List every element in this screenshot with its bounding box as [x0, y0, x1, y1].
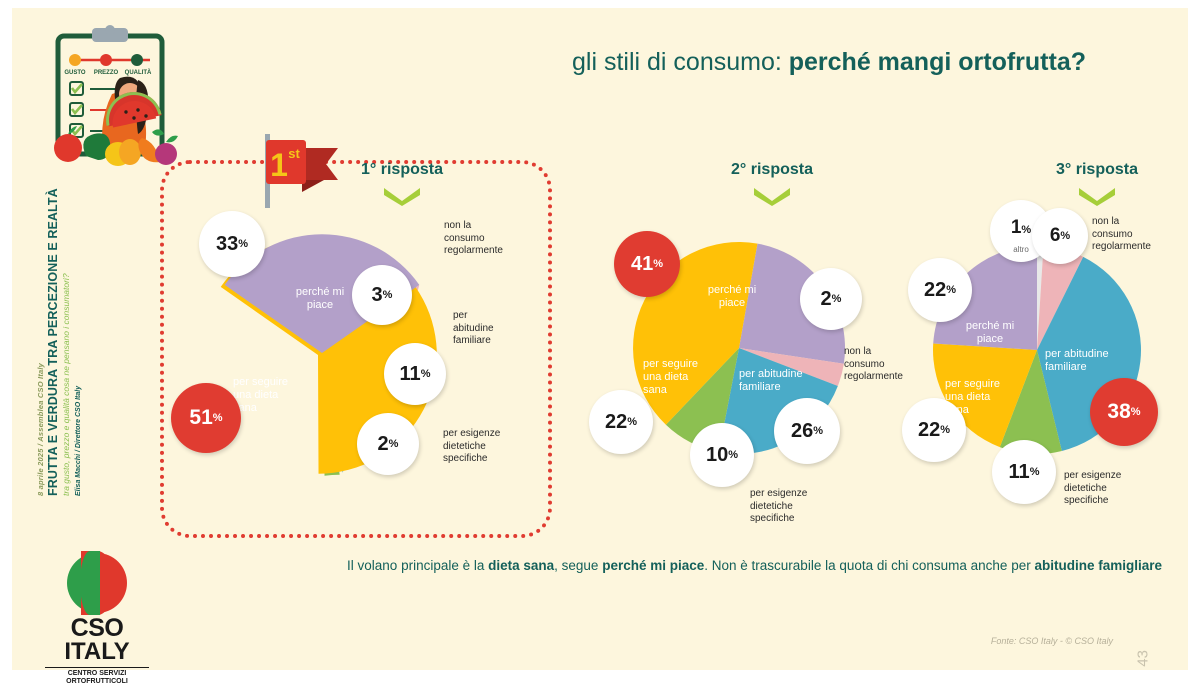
chart-1-unit-51: % [213, 412, 223, 424]
chart-3-value-6: 6 [1050, 225, 1061, 247]
slide-canvas: 8 aprile 2025 / Assemblea CSO Italy FRUT… [12, 8, 1188, 670]
chart-1-unit-33: % [238, 238, 248, 250]
chart-3-unit-6: % [1060, 230, 1070, 242]
summary-caption: Il volano principale è la dieta sana, se… [202, 556, 1162, 577]
chart-1-bubble-51: 51% [171, 383, 241, 453]
slider-label-prezzo: PREZZO [94, 70, 119, 76]
chart-2-bubble-2: 2% [800, 268, 862, 330]
chart-2-value-22: 22 [605, 411, 627, 434]
chart-3-bubble-6: 6% [1032, 208, 1088, 264]
chart-2-bubble-22: 22% [589, 390, 653, 454]
logo-subtitle-line1: CENTRO SERVIZI [68, 670, 127, 677]
chart-1-value-11: 11 [400, 363, 421, 386]
logo-name-italy: ITALY [45, 641, 149, 664]
chart-1-outlabel-abitudine: perabitudinefamiliare [453, 310, 548, 348]
chart-1-bubble-33: 33% [199, 211, 265, 277]
chart-1-bubble-11: 11% [384, 343, 446, 405]
chart-1-outlabel-esigenze: per esigenzedietetichespecifiche [443, 428, 543, 466]
hero-illustration: GUSTO PREZZO QUALITÀ [34, 22, 194, 172]
chart-block-1: 1° risposta perché mipiace per seguireun… [172, 158, 552, 538]
chart-1-bubble-3: 3% [352, 265, 412, 325]
caption-part1: Il volano principale è la [347, 558, 488, 573]
rail-headline: FRUTTA E VERDURA TRA PERCEZIONE E REALTÀ [46, 166, 60, 496]
chart-1-heading: 1° risposta [342, 161, 462, 179]
chart-3-value-11: 11 [1009, 461, 1030, 484]
chart-2-bubble-10: 10% [690, 423, 754, 487]
chart-1-outlabel-non-consumo: non laconsumoregolarmente [444, 220, 539, 258]
slider-label-qualita: QUALITÀ [125, 69, 152, 76]
chart-1-value-51: 51 [189, 406, 212, 430]
cso-italy-logo: CSO ITALY CENTRO SERVIZI ORTOFRUTTICOLI [45, 553, 149, 686]
chart-1-value-3: 3 [372, 284, 383, 307]
chart-3-unit-22-top: % [946, 284, 956, 296]
caption-bold1: dieta sana [488, 558, 554, 573]
chart-1-unit-11: % [421, 368, 431, 380]
chart-1-value-33: 33 [216, 233, 238, 256]
chevron-down-icon-1 [382, 186, 422, 206]
chart-3-bubble-22-bottom: 22% [902, 398, 966, 462]
chart-2-bubble-41: 41% [614, 231, 680, 297]
chart-2-outlabel-esigenze: per esigenzedietetichespecifiche [750, 488, 850, 526]
vertical-title-rail: 8 aprile 2025 / Assemblea CSO Italy FRUT… [36, 166, 82, 496]
chart-3-value-22-bottom: 22 [918, 419, 940, 442]
chart-3-bubble-22-top: 22% [908, 258, 972, 322]
caption-part2: , segue [554, 558, 602, 573]
chart-3-value-38: 38 [1107, 400, 1130, 424]
chevron-down-icon-2 [752, 186, 792, 206]
chart-3-unit-11: % [1030, 466, 1040, 478]
chart-3-heading: 3° risposta [1032, 161, 1162, 179]
rail-author: Elisa Macchi / Direttore CSO Italy [75, 166, 82, 496]
chart-2-heading: 2° risposta [707, 161, 837, 179]
chart-3-value-22-top: 22 [924, 279, 946, 302]
page-number: 43 [1135, 650, 1152, 667]
chart-2-value-10: 10 [706, 444, 728, 467]
page-title-plain: gli stili di consumo: [572, 48, 789, 76]
cso-logo-mark [67, 553, 127, 613]
chart-2-unit-2: % [832, 293, 842, 305]
chart-2-bubble-26: 26% [774, 398, 840, 464]
chart-2-value-26: 26 [791, 420, 813, 443]
chart-2-unit-41: % [653, 258, 663, 270]
slider-label-gusto: GUSTO [64, 70, 86, 76]
caption-bold3: abitudine famigliare [1034, 558, 1162, 573]
page-title: gli stili di consumo: perché mangi ortof… [572, 48, 1172, 77]
chart-3-value-1: 1 [1011, 217, 1022, 238]
chart-2-unit-26: % [813, 425, 823, 437]
chart-2-unit-22: % [627, 416, 637, 428]
chart-3-bubble-11: 11% [992, 440, 1056, 504]
chart-1-unit-3: % [383, 289, 393, 301]
caption-part3: . Non è trascurabile la quota di chi con… [704, 558, 1034, 573]
chart-block-3: 3° risposta perché mipiace per seguireun… [892, 158, 1182, 538]
chart-1-unit-2: % [389, 438, 399, 450]
chevron-down-icon-3 [1077, 186, 1117, 206]
chart-2-value-41: 41 [631, 253, 653, 276]
chart-3-bubble-38: 38% [1090, 378, 1158, 446]
rail-subhead: tra gusto, prezzo e qualità cosa ne pens… [61, 166, 71, 496]
chart-2-value-2: 2 [821, 288, 832, 311]
chart-2-unit-10: % [728, 449, 738, 461]
logo-subtitle: CENTRO SERVIZI ORTOFRUTTICOLI [45, 667, 149, 686]
chart-3-unit-22-bottom: % [940, 424, 950, 436]
chart-1-bubble-2: 2% [357, 413, 419, 475]
checkbox-icon-2 [70, 103, 83, 116]
chart-3-outlabel-esigenze: per esigenzedietetichespecifiche [1064, 470, 1164, 508]
page-title-bold: perché mangi ortofrutta? [789, 48, 1086, 76]
chart-1-value-2: 2 [378, 433, 389, 456]
chart-3-unit-1: % [1021, 224, 1031, 236]
rail-date-event: 8 aprile 2025 / Assemblea CSO Italy [36, 166, 45, 496]
source-note: Fonte: CSO Italy - © CSO Italy [991, 636, 1113, 646]
checkbox-icon-1 [70, 82, 83, 95]
chart-3-unit-38: % [1131, 406, 1141, 418]
chart-3-outlabel-non-consumo: non laconsumoregolarmente [1092, 216, 1187, 254]
caption-bold2: perché mi piace [602, 558, 704, 573]
